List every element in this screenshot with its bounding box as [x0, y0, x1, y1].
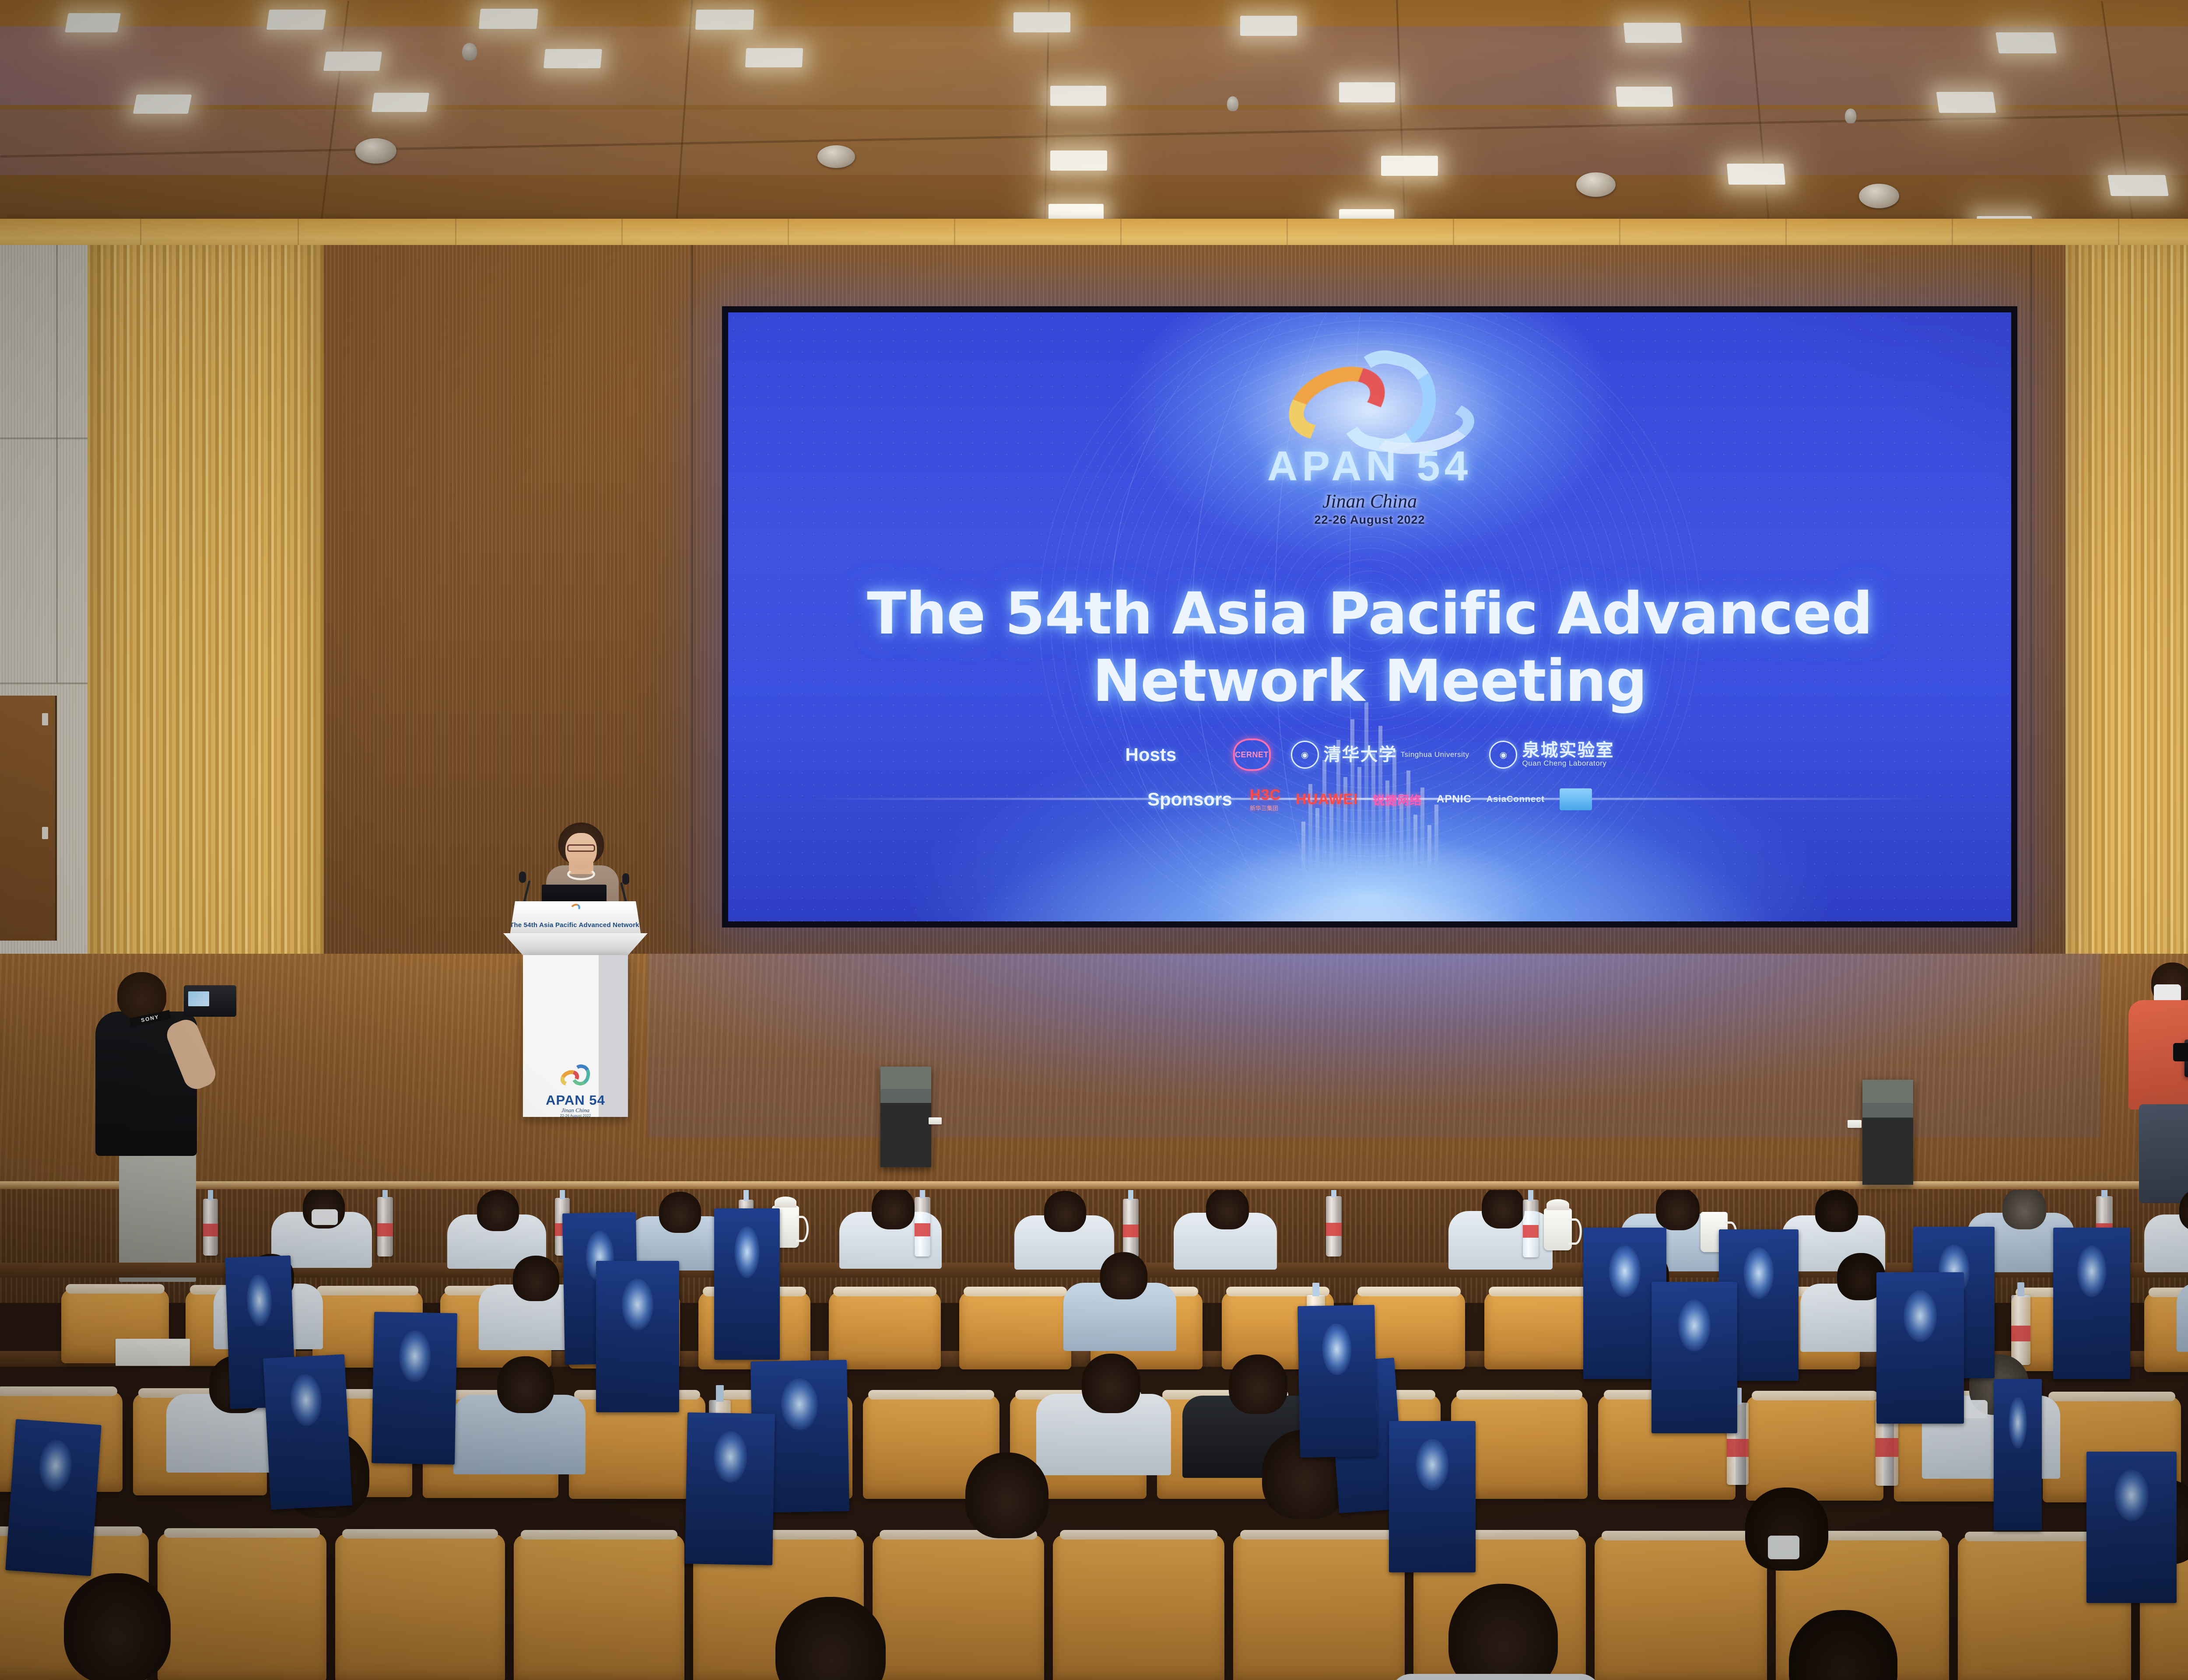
ceiling-light	[1050, 150, 1107, 171]
tea-mug	[1544, 1208, 1572, 1250]
h3c-text: H3C	[1250, 787, 1281, 803]
screen-credits: Hosts CERNET ◉ 清华大学 Tsinghua University …	[728, 738, 2011, 828]
apnic-text: APNIC	[1437, 793, 1472, 805]
attendee-head	[659, 1192, 701, 1233]
ceiling-light	[1339, 82, 1395, 102]
seat-namecard: 鞠雷The 54th Asia Pacific Advanced Network…	[372, 1312, 457, 1464]
podium-title: The 54th Asia Pacific Advanced Network M…	[510, 921, 641, 929]
quancheng-seal-icon: ◉	[1489, 741, 1517, 769]
auditorium-seat[interactable]	[1053, 1535, 1224, 1680]
apan-logo-word: APAN 54	[1234, 445, 1505, 487]
podium-logo: APAN 54 Jinan China 22-26 August 2022	[523, 1064, 628, 1118]
ceiling	[0, 0, 2188, 245]
attendee-head-foreground	[64, 1573, 171, 1680]
ceiling-light	[1240, 16, 1297, 36]
sprinkler-icon	[1227, 96, 1238, 111]
attendee-head	[965, 1452, 1048, 1538]
attendee-shoulders	[1391, 1674, 1601, 1680]
ceiling-light	[2107, 175, 2169, 196]
hosts-row: Hosts CERNET ◉ 清华大学 Tsinghua University …	[728, 738, 2011, 771]
smoke-detector-icon	[1576, 172, 1616, 197]
smoke-detector-icon	[817, 145, 855, 168]
attendee-head	[2002, 1190, 2046, 1229]
camera-lcd-screen	[188, 991, 209, 1006]
sponsor-huawei: HUAWEI	[1296, 791, 1358, 808]
podium-top-logo	[571, 904, 580, 913]
water-bottle	[2011, 1295, 2030, 1365]
h3c-sub: 新华三集团	[1250, 804, 1281, 812]
attendee-head	[1206, 1190, 1249, 1229]
logo-cernet: CERNET	[1233, 738, 1271, 771]
ceiling-light	[1727, 164, 1785, 185]
auditorium-seat[interactable]	[1595, 1536, 1767, 1680]
handout-paper	[116, 1339, 190, 1366]
ceiling-light	[1616, 87, 1673, 107]
seat-namecard: 李The 54th Asia Pacific Advanced Network …	[714, 1208, 780, 1360]
attendee-head	[1082, 1354, 1140, 1413]
tsinghua-cn: 清华大学	[1324, 746, 1397, 763]
huawei-text: HUAWEI	[1296, 791, 1358, 808]
auditorium-seat[interactable]	[873, 1535, 1044, 1680]
seat-namecard: 董琳The 54th Asia Pacific Advanced Network…	[263, 1354, 352, 1509]
attendee-head	[1482, 1190, 1525, 1228]
sponsor-extra	[1560, 788, 1592, 810]
logo-tsinghua-en-wrap: Tsinghua University	[1401, 750, 1469, 759]
hosts-label: Hosts	[1126, 744, 1213, 765]
ruijie-text: 锐捷网络	[1373, 794, 1422, 807]
auditorium-seat[interactable]	[514, 1535, 684, 1680]
ceiling-light	[543, 49, 602, 68]
microphone-left-head	[519, 871, 526, 883]
apan-logo-date: 22-26 August 2022	[1234, 513, 1505, 527]
sprinkler-icon	[462, 43, 477, 60]
podium-logo-word: APAN 54	[523, 1093, 628, 1107]
auditorium-scene: APAN 54 Jinan China 22-26 August 2022 Th…	[0, 0, 2188, 1680]
tsinghua-seal-icon: ◉	[1291, 741, 1319, 769]
stage-edge	[0, 1181, 2188, 1190]
led-screen: APAN 54 Jinan China 22-26 August 2022 Th…	[722, 306, 2017, 927]
namecard-subtitle: The 54th Asia Pacific Advanced Network M…	[229, 1255, 286, 1257]
face-mask	[1963, 1400, 1988, 1418]
auditorium-seat[interactable]	[158, 1533, 326, 1680]
sponsor-asiaconnect: AsiaConnect	[1487, 794, 1545, 805]
attendee-head-foreground	[1448, 1584, 1558, 1680]
attendee-shoulders	[2144, 1214, 2188, 1272]
apan-logo: APAN 54 Jinan China 22-26 August 2022	[1234, 349, 1505, 527]
smoke-detector-icon	[1859, 184, 1899, 208]
sponsors-row: Sponsors H3C 新华三集团 HUAWEI 锐捷网络 APNIC	[728, 787, 2011, 812]
attendee-head	[872, 1190, 915, 1229]
ceiling-light	[133, 94, 192, 114]
water-bottle	[915, 1197, 930, 1256]
ceiling-light	[1050, 86, 1106, 106]
asiaconnect-text: AsiaConnect	[1487, 794, 1545, 804]
seat-namecard: 陈The 54th Asia Pacific Advanced Network …	[1994, 1379, 2042, 1530]
attendee-head	[1815, 1190, 1858, 1232]
microphone-right-head	[622, 873, 629, 885]
attendee-head	[513, 1256, 559, 1301]
podium-logo-date: 22-26 August 2022	[523, 1114, 628, 1118]
seat-namecard: 杨宝林The 54th Asia Pacific Advanced Networ…	[1652, 1282, 1737, 1433]
ceiling-light	[1381, 156, 1438, 176]
ceiling-light	[323, 52, 382, 71]
water-bottle	[1123, 1199, 1139, 1257]
logo-quancheng: ◉ 泉城实验室 Quan Cheng Laboratory	[1489, 741, 1614, 769]
attendee-head	[1100, 1252, 1147, 1299]
seat-namecard: 刘少佳The 54th Asia Pacific Advanced Networ…	[5, 1419, 102, 1576]
auditorium-seat[interactable]	[1233, 1535, 1405, 1680]
cernet-logo-mark: CERNET	[1233, 738, 1271, 771]
podium-mini-mark-icon	[570, 903, 581, 913]
ceiling-light	[1995, 32, 2057, 53]
speaker-glasses	[567, 844, 595, 852]
speaker-necklace	[567, 868, 595, 880]
tsinghua-en: Tsinghua University	[1401, 750, 1469, 759]
water-bottle	[1523, 1200, 1539, 1257]
attendee-head	[1044, 1191, 1086, 1232]
quancheng-cn: 泉城实验室	[1522, 742, 1614, 759]
podium-logo-mark-icon	[558, 1064, 593, 1092]
sponsor-apnic: APNIC	[1437, 793, 1472, 805]
auditorium-seat[interactable]	[829, 1291, 941, 1369]
ceiling-light	[479, 9, 538, 29]
ceiling-light	[65, 13, 121, 32]
stage-paper-left	[929, 1117, 942, 1124]
quancheng-en: Quan Cheng Laboratory	[1522, 759, 1614, 768]
ceiling-light	[266, 10, 326, 30]
seat-namecard: 杨雪仁The 54th Asia Pacific Advanced Networ…	[1389, 1421, 1476, 1572]
sponsor-ruijie: 锐捷网络	[1373, 791, 1422, 808]
ceiling-light	[1936, 92, 1996, 113]
ceiling-light	[695, 10, 754, 30]
stage-paper-right	[1848, 1120, 1862, 1128]
podium-body: APAN 54 Jinan China 22-26 August 2022	[523, 955, 628, 1117]
seat-namecard: 郭晓东The 54th Asia Pacific Advanced Networ…	[596, 1261, 679, 1412]
attendee-head	[1656, 1190, 1700, 1230]
ceiling-light	[1623, 23, 1682, 43]
auditorium-seat[interactable]	[335, 1534, 505, 1680]
seat-namecard: 张军The 54th Asia Pacific Advanced Network…	[2053, 1228, 2130, 1379]
water-bottle	[203, 1199, 218, 1256]
screen-title: The 54th Asia Pacific Advanced Network M…	[728, 580, 2011, 715]
attendee-head	[1229, 1354, 1287, 1414]
sprinkler-icon	[1845, 108, 1856, 123]
water-bottle	[377, 1197, 393, 1256]
videographer-1-legs	[2139, 1104, 2188, 1203]
attendee-head	[477, 1190, 519, 1231]
auditorium-seat[interactable]	[959, 1291, 1071, 1369]
seat-namecard: 胡亚峰The 54th Asia Pacific Advanced Networ…	[1297, 1305, 1377, 1457]
water-bottle	[1326, 1196, 1342, 1256]
podium-logo-city: Jinan China	[523, 1107, 628, 1114]
apan-ribbon-mark	[1234, 349, 1505, 445]
seat-namecard: 李振斌The 54th Asia Pacific Advanced Networ…	[2086, 1452, 2177, 1603]
smoke-detector-icon	[355, 138, 396, 164]
ceiling-light	[1013, 12, 1070, 32]
face-mask	[312, 1209, 338, 1225]
sponsor-h3c: H3C 新华三集团	[1250, 787, 1281, 812]
seat-namecard: 郭山清The 54th Asia Pacific Advanced Networ…	[1876, 1272, 1964, 1424]
apan-logo-city: Jinan China	[1234, 490, 1505, 512]
seat-namecard: 沈涌The 54th Asia Pacific Advanced Network…	[685, 1412, 775, 1565]
stage-monitor-left	[880, 1067, 931, 1167]
auditorium-seat[interactable]	[1484, 1291, 1596, 1369]
audience-area: 张波The 54th Asia Pacific Advanced Network…	[0, 1190, 2188, 1680]
face-mask	[1768, 1536, 1799, 1559]
stage-monitor-right	[1862, 1080, 1913, 1185]
podium-top: The 54th Asia Pacific Advanced Network M…	[510, 901, 641, 935]
sponsors-label: Sponsors	[1147, 789, 1235, 810]
attendee-head	[497, 1356, 554, 1413]
podium-bevel	[503, 933, 648, 956]
videographer-1-camera-lens	[2173, 1043, 2188, 1061]
logo-tsinghua: ◉ 清华大学	[1291, 741, 1397, 769]
ceiling-light	[745, 48, 803, 67]
namecard-subtitle: The 54th Asia Pacific Advanced Network M…	[571, 1212, 628, 1214]
auditorium-seat[interactable]	[1746, 1396, 1883, 1501]
side-door[interactable]	[0, 696, 57, 941]
ceiling-light	[372, 93, 429, 112]
